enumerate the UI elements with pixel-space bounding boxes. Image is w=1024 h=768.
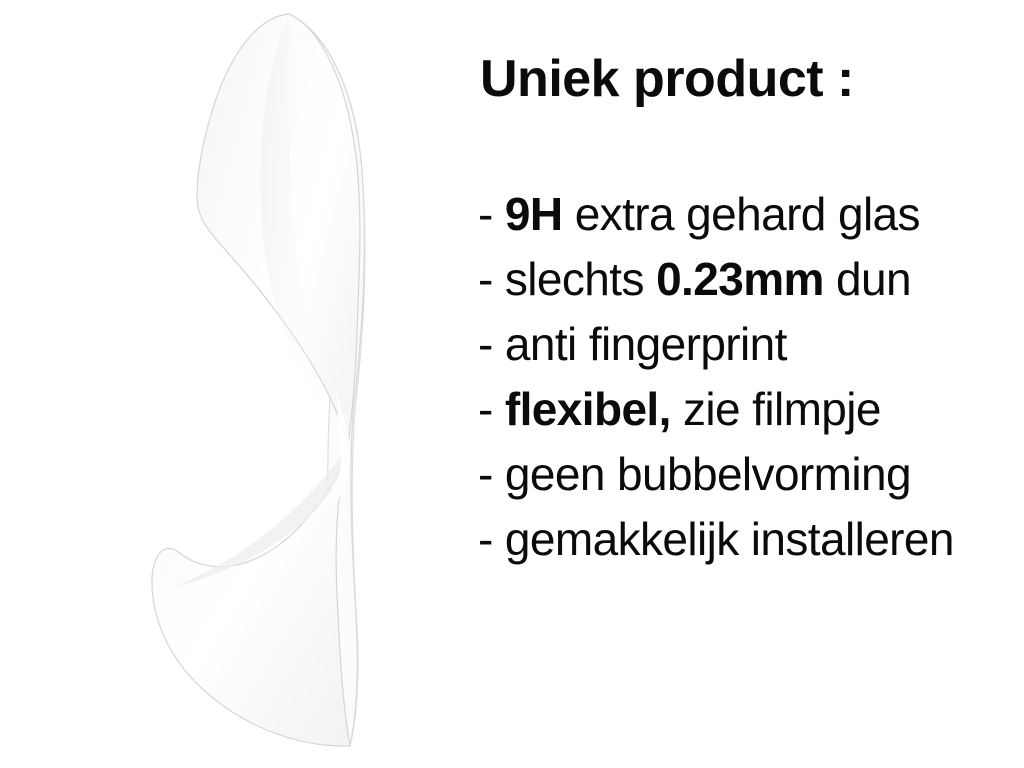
list-item-emphasis: 9H [505, 188, 563, 240]
list-item: - slechts 0.23mm dun [478, 247, 1024, 312]
list-item: - anti fingerprint [478, 312, 1024, 377]
marketing-copy: Uniek product : - 9H extra gehard glas -… [470, 0, 1024, 768]
list-item-label: extra gehard glas [563, 188, 920, 240]
list-item-label-tail: dun [824, 253, 911, 305]
list-item: - geen bubbelvorming [478, 442, 1024, 507]
list-item-emphasis: flexibel, [505, 383, 671, 435]
list-item: - 9H extra gehard glas [478, 182, 1024, 247]
list-item: - gemakkelijk installeren [478, 507, 1024, 572]
page-title: Uniek product : [480, 52, 854, 107]
list-marker: - [478, 253, 505, 305]
product-photo [0, 0, 460, 768]
list-item-label: gemakkelijk installeren [505, 513, 954, 565]
list-item: - flexibel, zie filmpje [478, 377, 1024, 442]
list-marker: - [478, 188, 505, 240]
twisted-glass-illustration [0, 0, 460, 768]
list-item-label: slechts [505, 253, 656, 305]
list-marker: - [478, 318, 505, 370]
list-item-label: geen bubbelvorming [505, 448, 911, 500]
list-item-label: anti fingerprint [505, 318, 787, 370]
product-promo-image: Uniek product : - 9H extra gehard glas -… [0, 0, 1024, 768]
list-marker: - [478, 383, 505, 435]
list-item-emphasis: 0.23mm [656, 253, 824, 305]
list-marker: - [478, 448, 505, 500]
list-item-label: zie filmpje [671, 383, 881, 435]
list-marker: - [478, 513, 505, 565]
feature-list: - 9H extra gehard glas - slechts 0.23mm … [478, 182, 1024, 572]
